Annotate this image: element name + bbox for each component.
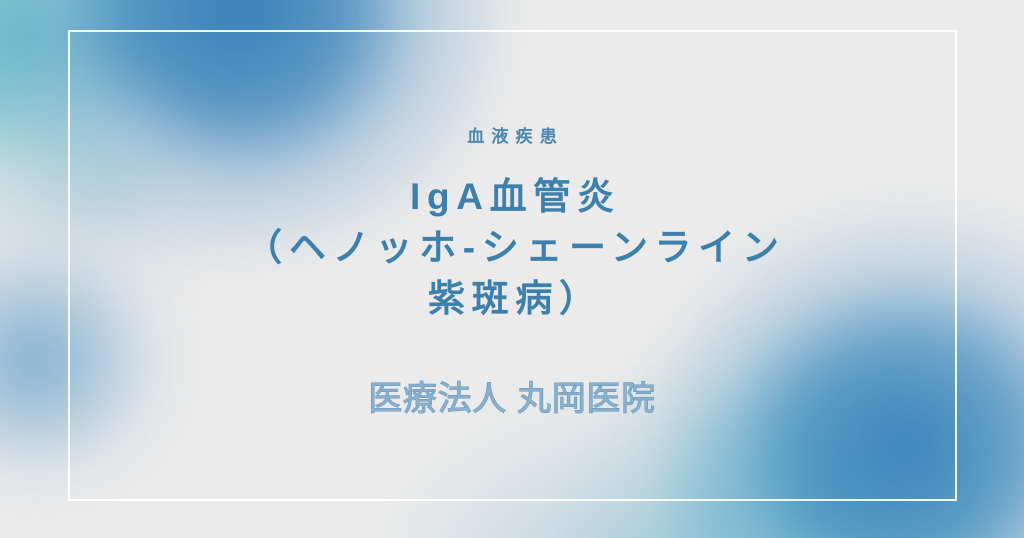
- page-title-line-3: 紫斑病）: [239, 273, 786, 324]
- page-title-line-2: （ヘノッホ-シェーンライン: [239, 222, 786, 273]
- title-slide: 血液疾患 IgA血管炎 （ヘノッホ-シェーンライン 紫斑病） 医療法人 丸岡医院: [0, 0, 1024, 538]
- slide-content: 血液疾患 IgA血管炎 （ヘノッホ-シェーンライン 紫斑病） 医療法人 丸岡医院: [0, 0, 1024, 538]
- page-title-line-1: IgA血管炎: [239, 171, 786, 222]
- organization-name: 医療法人 丸岡医院: [368, 379, 656, 420]
- page-title: IgA血管炎 （ヘノッホ-シェーンライン 紫斑病）: [239, 171, 786, 324]
- category-label: 血液疾患: [460, 128, 564, 145]
